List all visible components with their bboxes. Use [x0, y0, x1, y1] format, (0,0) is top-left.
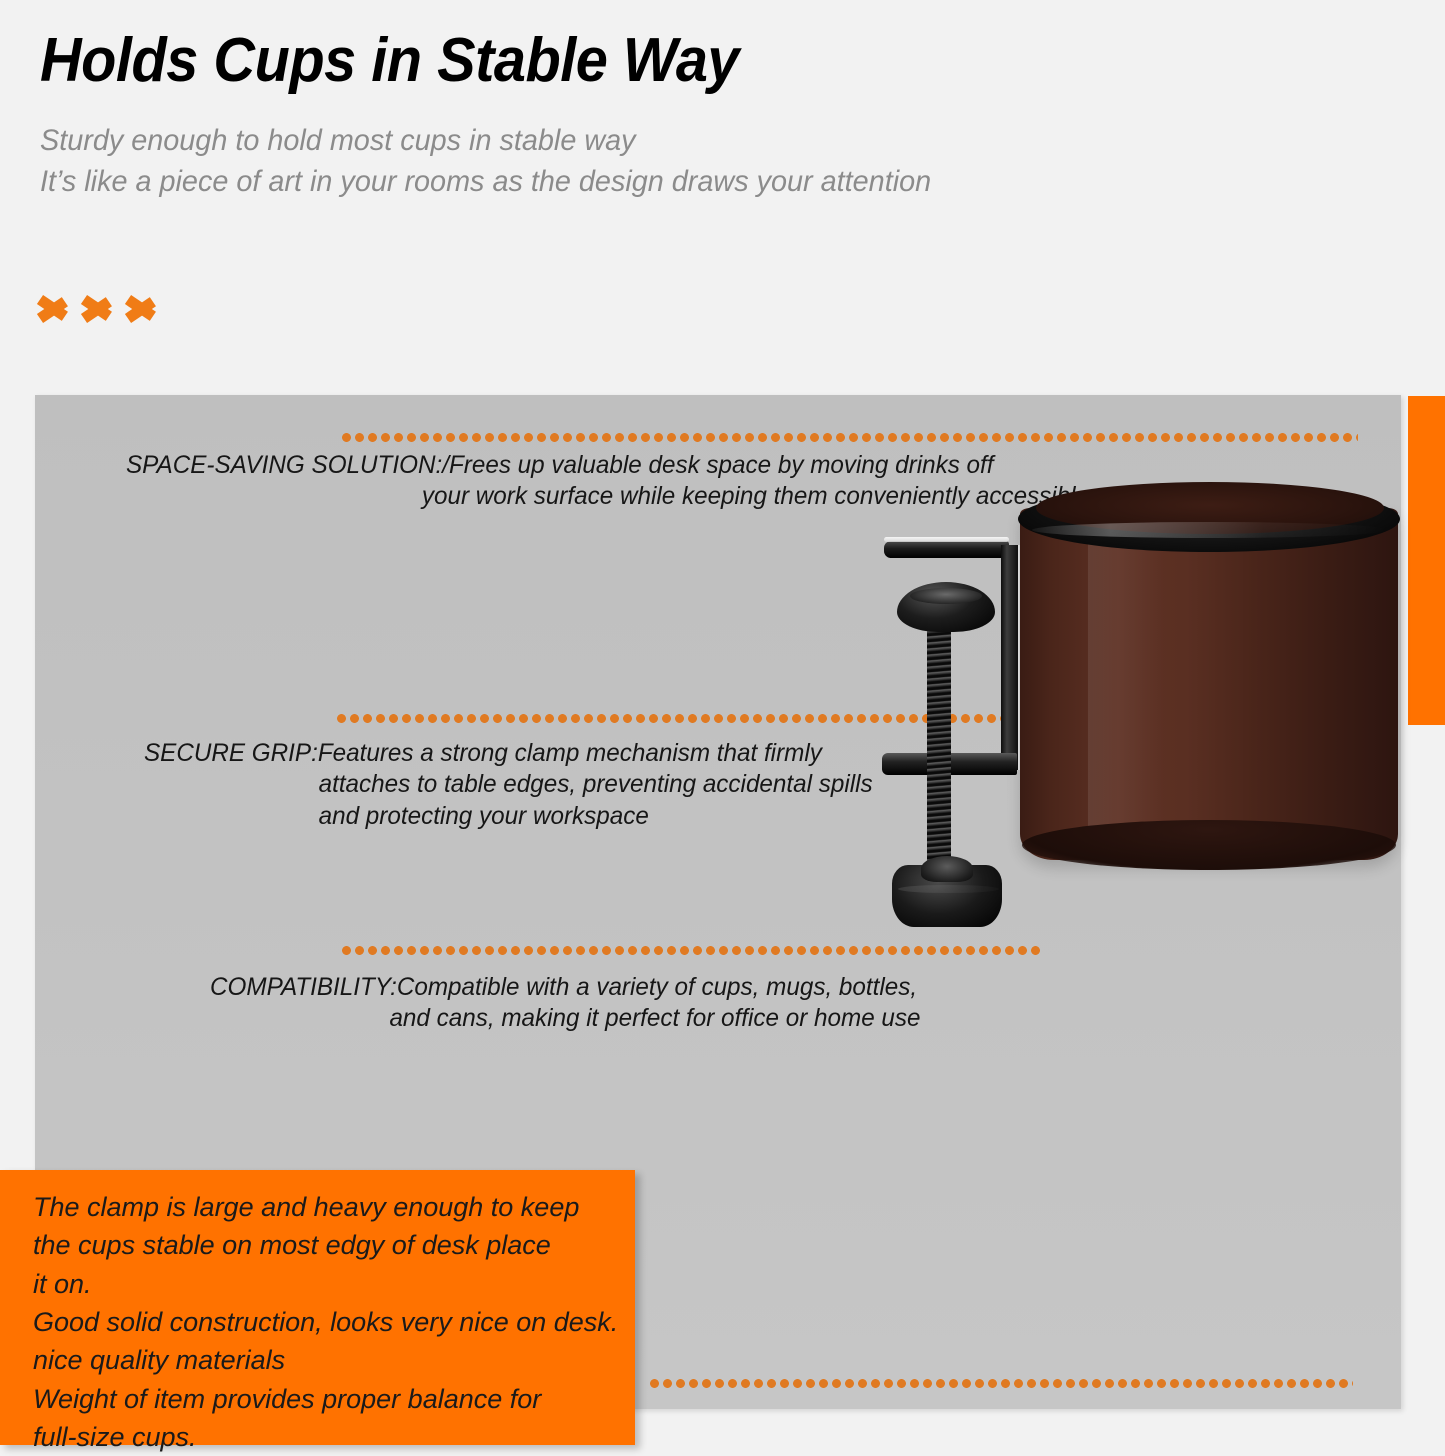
page-subtitle-line-1: Sturdy enough to hold most cups in stabl…	[40, 120, 931, 161]
clamp-spine	[1001, 545, 1018, 770]
chevron-arrows-group	[38, 285, 166, 333]
chevron-right-icon	[126, 285, 166, 333]
infographic-canvas: Holds Cups in Stable Way Sturdy enough t…	[0, 0, 1445, 1445]
review-line: Good solid construction, looks very nice…	[33, 1303, 618, 1341]
feature-line: and cans, making it perfect for office o…	[210, 1003, 921, 1034]
page-subtitle: Sturdy enough to hold most cups in stabl…	[40, 120, 931, 203]
feature-line: and protecting your workspace	[144, 801, 873, 832]
chevron-right-icon	[82, 285, 122, 333]
cup-holder-body	[1020, 508, 1398, 860]
cup-holder-base	[1022, 820, 1396, 870]
page-title: Holds Cups in Stable Way	[40, 30, 739, 92]
clamp-lower-knob	[892, 865, 1002, 927]
cup-rim-highlight	[1032, 522, 1388, 538]
clamp-threaded-screw	[927, 628, 951, 883]
review-line: The clamp is large and heavy enough to k…	[33, 1188, 618, 1226]
customer-review-box: The clamp is large and heavy enough to k…	[0, 1170, 635, 1445]
product-image-desk-clamp-cup-holder	[860, 460, 1420, 960]
clamp-top-arm	[884, 541, 1009, 558]
feature-compatibility: COMPATIBILITY:Compatible with a variety …	[210, 972, 921, 1035]
review-line: it on.	[33, 1265, 618, 1303]
page-subtitle-line-2: It’s like a piece of art in your rooms a…	[40, 161, 931, 202]
feature-line: SECURE GRIP:Features a strong clamp mech…	[144, 738, 873, 769]
customer-review-text: The clamp is large and heavy enough to k…	[33, 1188, 618, 1456]
dotted-divider	[340, 433, 1358, 442]
dotted-divider	[648, 1379, 1353, 1388]
chevron-right-icon	[38, 285, 78, 333]
feature-line: COMPATIBILITY:Compatible with a variety …	[210, 972, 921, 1003]
feature-line: attaches to table edges, preventing acci…	[144, 769, 873, 800]
review-line: full-size cups.	[33, 1418, 618, 1456]
review-line: the cups stable on most edgy of desk pla…	[33, 1226, 618, 1264]
review-line: Weight of item provides proper balance f…	[33, 1380, 618, 1418]
feature-secure-grip: SECURE GRIP:Features a strong clamp mech…	[144, 738, 873, 832]
review-line: nice quality materials	[33, 1341, 618, 1379]
clamp-upper-knob	[897, 582, 995, 632]
